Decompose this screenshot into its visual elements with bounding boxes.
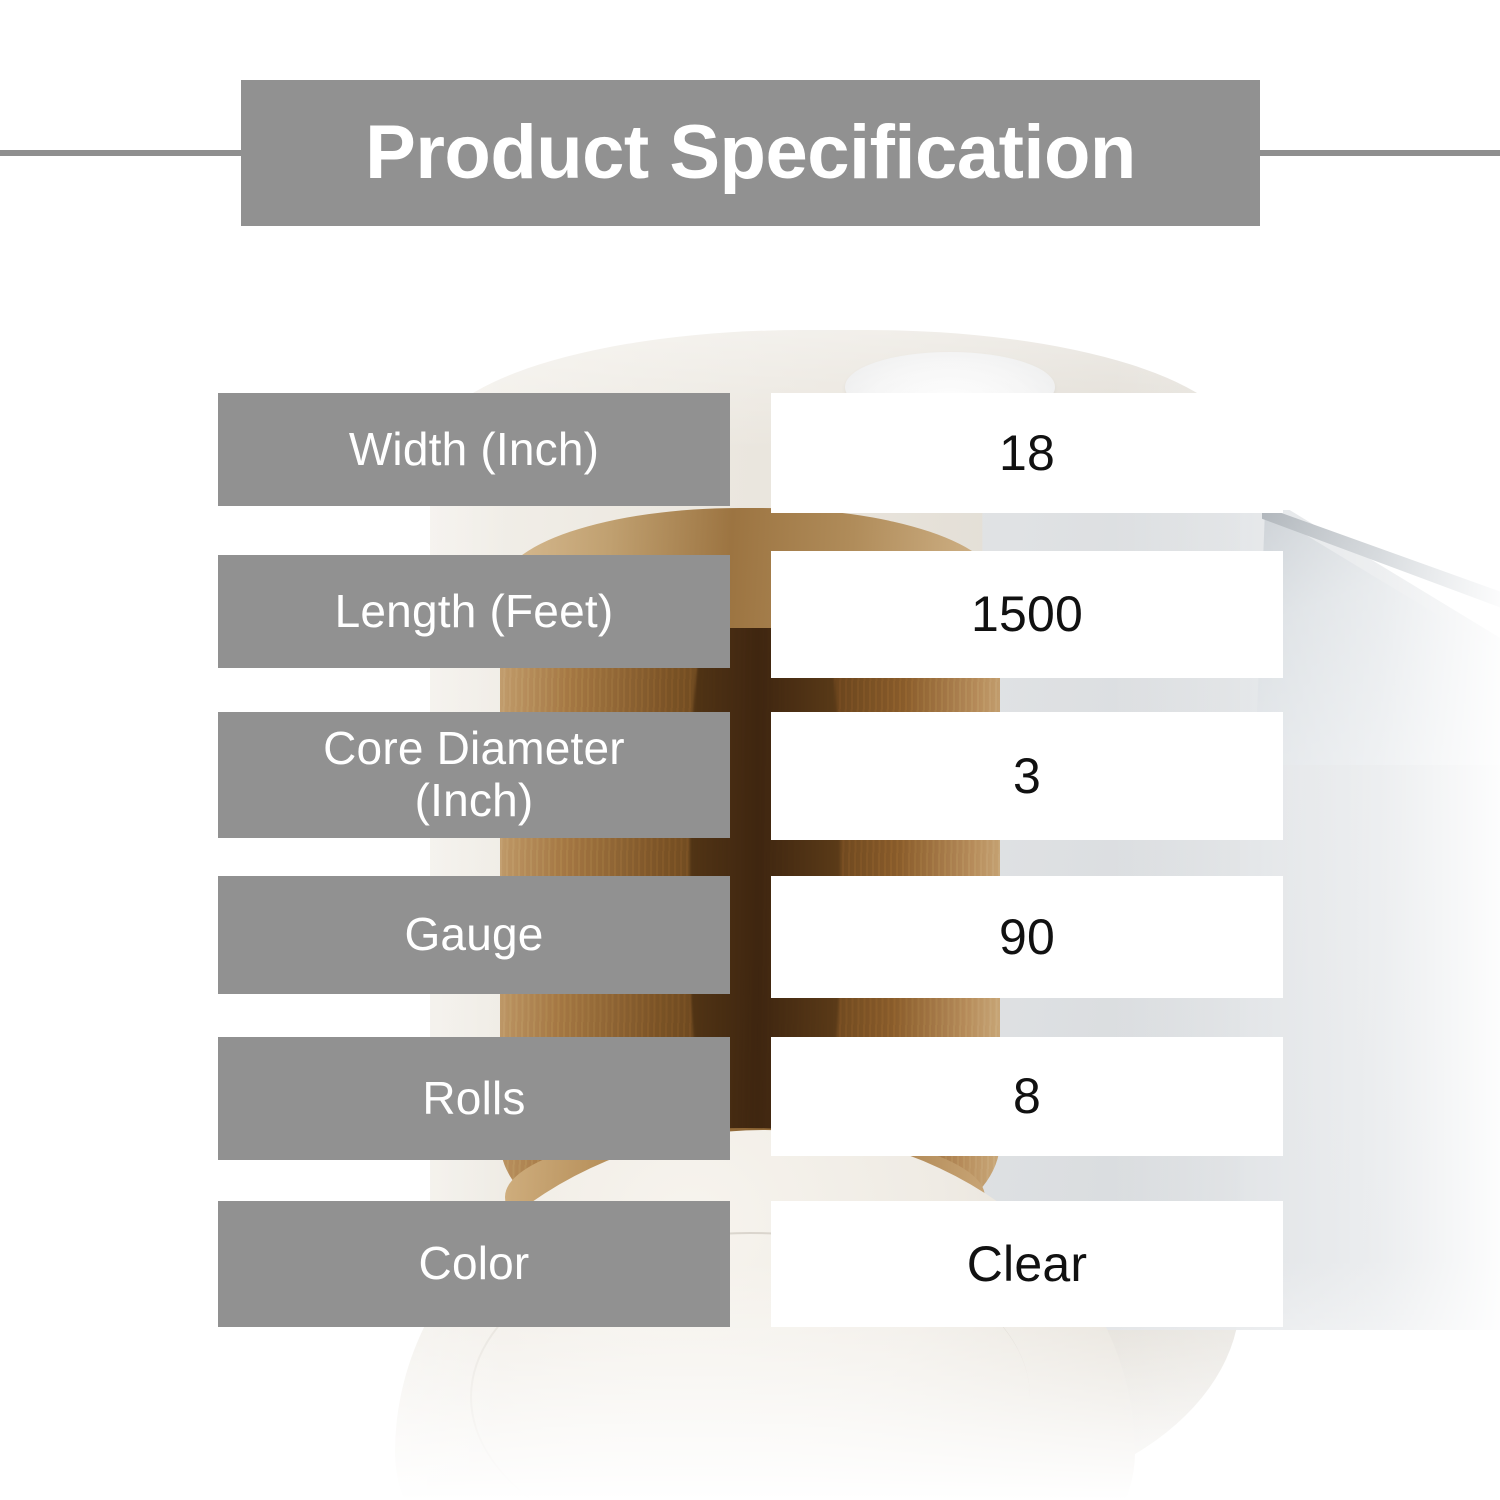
spec-label-cell: Gauge <box>218 876 730 994</box>
spec-label-cell: Length (Feet) <box>218 555 730 668</box>
spec-label-cell: Color <box>218 1201 730 1327</box>
spec-value-cell: 1500 <box>771 551 1283 678</box>
spec-label-text: Rolls <box>422 1073 525 1125</box>
specification-table: Width (Inch) 18 Length (Feet) 1500 Core … <box>0 0 1500 1500</box>
spec-value-cell: 18 <box>771 393 1283 513</box>
spec-value-cell: 3 <box>771 712 1283 840</box>
spec-label-text: Length (Feet) <box>335 586 614 638</box>
spec-value-text: Clear <box>967 1237 1087 1292</box>
spec-value-cell: 90 <box>771 876 1283 998</box>
spec-value-cell: 8 <box>771 1037 1283 1156</box>
spec-value-cell: Clear <box>771 1201 1283 1327</box>
spec-label-text: Width (Inch) <box>349 424 599 476</box>
spec-label-text: Color <box>419 1238 530 1290</box>
spec-label-text: Core Diameter(Inch) <box>323 723 625 826</box>
spec-label-cell: Core Diameter(Inch) <box>218 712 730 838</box>
spec-value-text: 1500 <box>971 587 1083 642</box>
product-specification-infographic: Product Specification Width (Inch) 18 Le… <box>0 0 1500 1500</box>
spec-value-text: 8 <box>1013 1069 1041 1124</box>
spec-value-text: 3 <box>1013 749 1041 804</box>
spec-value-text: 18 <box>999 426 1055 481</box>
spec-label-cell: Width (Inch) <box>218 393 730 506</box>
spec-label-cell: Rolls <box>218 1037 730 1160</box>
spec-label-text: Gauge <box>404 909 543 961</box>
spec-value-text: 90 <box>999 910 1055 965</box>
